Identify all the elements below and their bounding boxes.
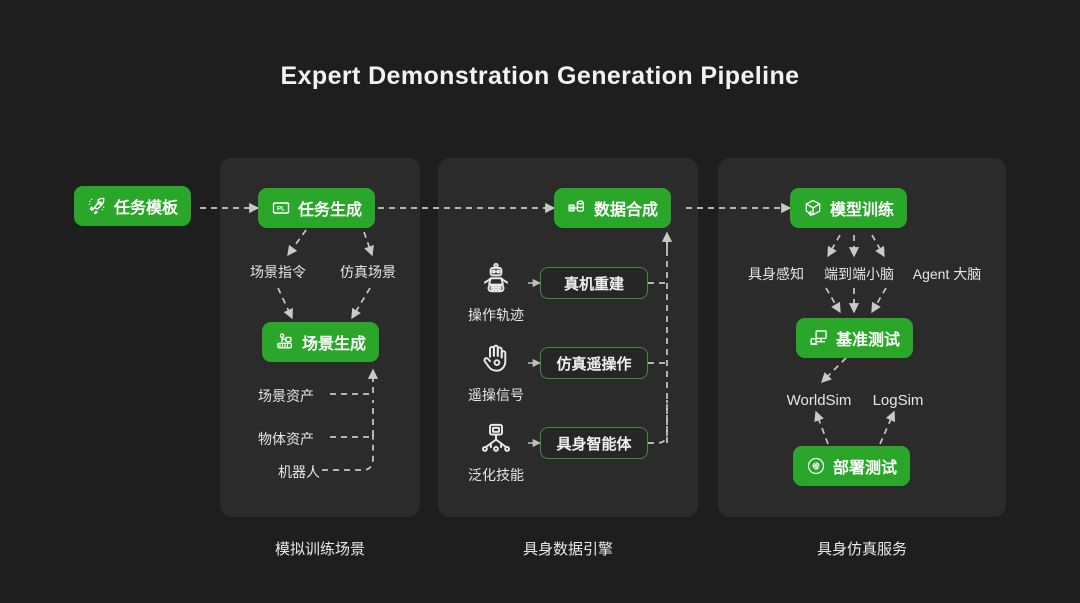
input-label-robot: 机器人: [278, 462, 320, 482]
node-label: 基准测试: [836, 326, 900, 350]
rocket-icon: [87, 196, 107, 216]
sim-label-worldsim: WorldSim: [787, 392, 852, 409]
node-label: 任务生成: [298, 196, 362, 220]
source-label-operation-trajectory: 操作轨迹: [468, 305, 524, 325]
box-label: 真机重建: [564, 273, 624, 294]
input-label-scene-assets: 场景资产: [258, 386, 314, 406]
node-benchmark-test[interactable]: 基准测试: [796, 318, 913, 358]
data-merge-icon: [567, 198, 587, 218]
column-caption-simulation: 模拟训练场景: [220, 538, 420, 559]
node-task-template[interactable]: 任务模板: [74, 186, 191, 226]
node-deploy-test[interactable]: 部署测试: [793, 446, 910, 486]
sim-label-logsim: LogSim: [873, 392, 924, 409]
node-scene-generation[interactable]: 场景生成: [262, 322, 379, 362]
node-label: 部署测试: [833, 454, 897, 478]
monitor-chart-icon: [809, 328, 829, 348]
column-caption-sim-service: 具身仿真服务: [718, 538, 1006, 559]
robot-icon: [478, 261, 514, 297]
box-label: 具身智能体: [556, 433, 631, 454]
node-task-generation[interactable]: PL 任务生成: [258, 188, 375, 228]
box-real-machine-reconstruction[interactable]: 真机重建: [540, 267, 648, 299]
box-embodied-agent[interactable]: 具身智能体: [540, 427, 648, 459]
input-label-object-assets: 物体资产: [258, 429, 314, 449]
box-simulated-teleoperation[interactable]: 仿真遥操作: [540, 347, 648, 379]
swirl-circle-icon: [806, 456, 826, 476]
robot-arm-icon: [275, 332, 295, 352]
column-caption-data-engine: 具身数据引擎: [438, 538, 698, 559]
edge-label-sim-scene: 仿真场景: [340, 262, 396, 282]
mid-label-end-to-end-cerebellum: 端到端小脑: [824, 264, 894, 284]
glove-icon: [478, 341, 514, 377]
skill-network-icon: [478, 421, 514, 457]
code-block-icon: PL: [271, 198, 291, 218]
mid-label-agent-brain: Agent 大脑: [913, 264, 981, 284]
node-label: 模型训练: [830, 196, 894, 220]
source-label-generalized-skill: 泛化技能: [468, 465, 524, 485]
edge-label-scene-instruction: 场景指令: [250, 262, 306, 282]
mid-label-embodied-perception: 具身感知: [748, 264, 804, 284]
page-title: Expert Demonstration Generation Pipeline: [0, 62, 1080, 91]
node-label: 数据合成: [594, 196, 658, 220]
node-label: 场景生成: [302, 330, 366, 354]
node-model-training[interactable]: 模型训练: [790, 188, 907, 228]
node-data-synthesis[interactable]: 数据合成: [554, 188, 671, 228]
svg-text:PL: PL: [277, 206, 285, 213]
source-label-teleop-signal: 遥操信号: [468, 385, 524, 405]
cube-train-icon: [803, 198, 823, 218]
node-label: 任务模板: [114, 194, 178, 218]
diagram-canvas: Expert Demonstration Generation Pipeline: [0, 0, 1080, 603]
box-label: 仿真遥操作: [556, 353, 631, 374]
